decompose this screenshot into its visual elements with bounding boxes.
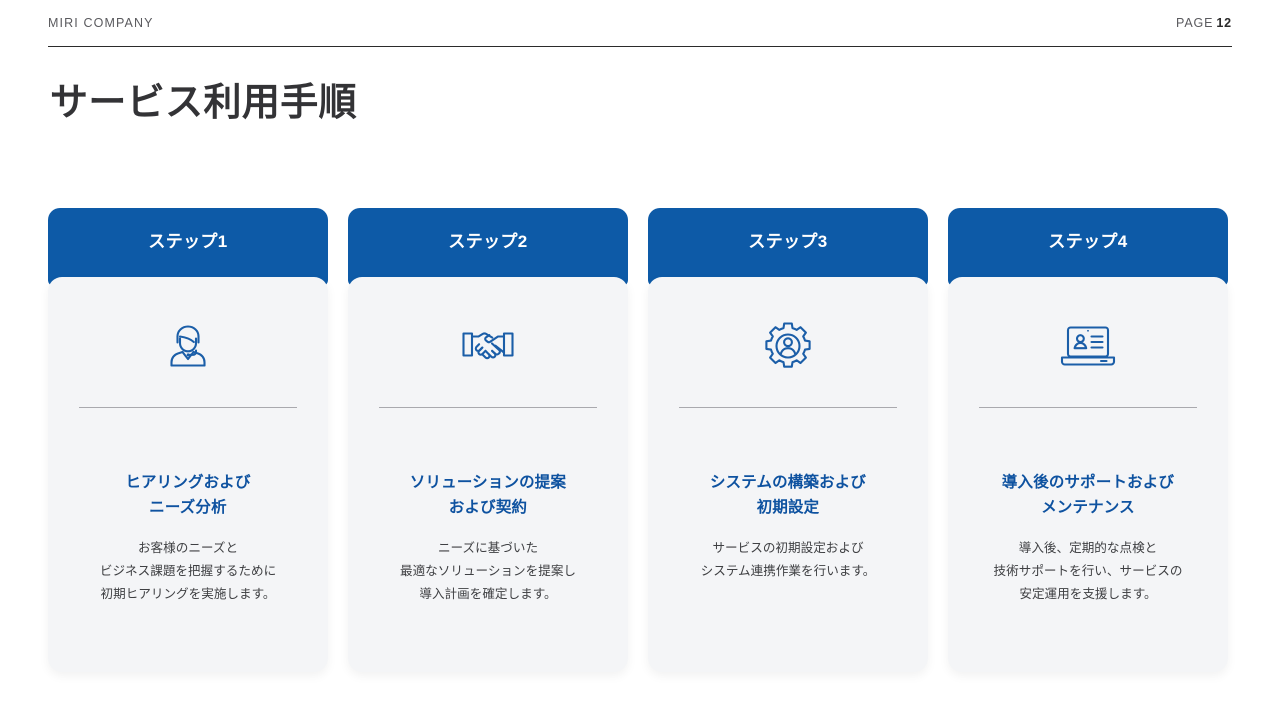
step-card-4-step-label: ステップ4 <box>1048 233 1127 250</box>
step-card-3: ステップ3 システムの構築および 初期設定 サービスの初期設定および システム連… <box>648 208 928 672</box>
step-card-1: ステップ1 ヒアリングおよび ニーズ分析 お客様のニーズと ビジネス課題を把握す <box>48 208 328 672</box>
step-card-2-description: ニーズに基づいた 最適なソリューションを提案し 導入計画を確定します。 <box>386 537 590 606</box>
step-card-2-heading: ソリューションの提案 および契約 <box>398 470 578 520</box>
laptop-profile-icon <box>1059 318 1117 374</box>
step-card-4-heading: 導入後のサポートおよび メンテナンス <box>990 470 1186 520</box>
step-card-3-body: システムの構築および 初期設定 サービスの初期設定および システム連携作業を行い… <box>648 277 928 672</box>
step-card-3-divider <box>679 407 897 408</box>
step-card-3-header: ステップ3 <box>648 208 928 286</box>
page-title: サービス利用手順 <box>50 80 357 128</box>
step-card-2-divider <box>379 407 597 408</box>
step-card-2: ステップ2 ソリューションの提案 および契約 ニーズに基づ <box>348 208 628 672</box>
step-card-1-body: ヒアリングおよび ニーズ分析 お客様のニーズと ビジネス課題を把握するために 初… <box>48 277 328 672</box>
step-card-2-header: ステップ2 <box>348 208 628 286</box>
step-card-4-header: ステップ4 <box>948 208 1228 286</box>
step-card-4: ステップ4 導入後のサポートおよび メンテナンス 導入後、定期的な点検と 技術サ <box>948 208 1228 672</box>
step-card-3-step-label: ステップ3 <box>748 233 827 250</box>
steps-container: ステップ1 ヒアリングおよび ニーズ分析 お客様のニーズと ビジネス課題を把握す <box>48 208 1228 672</box>
step-card-4-body: 導入後のサポートおよび メンテナンス 導入後、定期的な点検と 技術サポートを行い… <box>948 277 1228 672</box>
step-card-1-step-label: ステップ1 <box>148 233 227 250</box>
step-card-3-heading: システムの構築および 初期設定 <box>698 470 878 520</box>
step-card-1-heading: ヒアリングおよび ニーズ分析 <box>113 470 262 520</box>
company-brand-label: MIRI COMPANY <box>48 16 154 30</box>
step-card-4-divider <box>979 407 1197 408</box>
page-indicator: PAGE12 <box>1176 16 1232 30</box>
page-header: MIRI COMPANY PAGE12 <box>48 0 1232 47</box>
step-card-1-description: お客様のニーズと ビジネス課題を把握するために 初期ヒアリングを実施します。 <box>86 537 290 606</box>
step-card-1-header: ステップ1 <box>48 208 328 286</box>
page-label: PAGE <box>1176 16 1213 30</box>
step-card-3-description: サービスの初期設定および システム連携作業を行います。 <box>687 537 890 583</box>
headset-agent-icon <box>161 318 215 374</box>
step-card-1-divider <box>79 407 297 408</box>
page-number: 12 <box>1216 16 1232 30</box>
handshake-icon <box>460 318 516 374</box>
step-card-2-step-label: ステップ2 <box>448 233 527 250</box>
step-card-4-description: 導入後、定期的な点検と 技術サポートを行い、サービスの 安定運用を支援します。 <box>980 537 1197 606</box>
step-card-2-body: ソリューションの提案 および契約 ニーズに基づいた 最適なソリューションを提案し… <box>348 277 628 672</box>
gear-person-icon <box>761 318 815 374</box>
